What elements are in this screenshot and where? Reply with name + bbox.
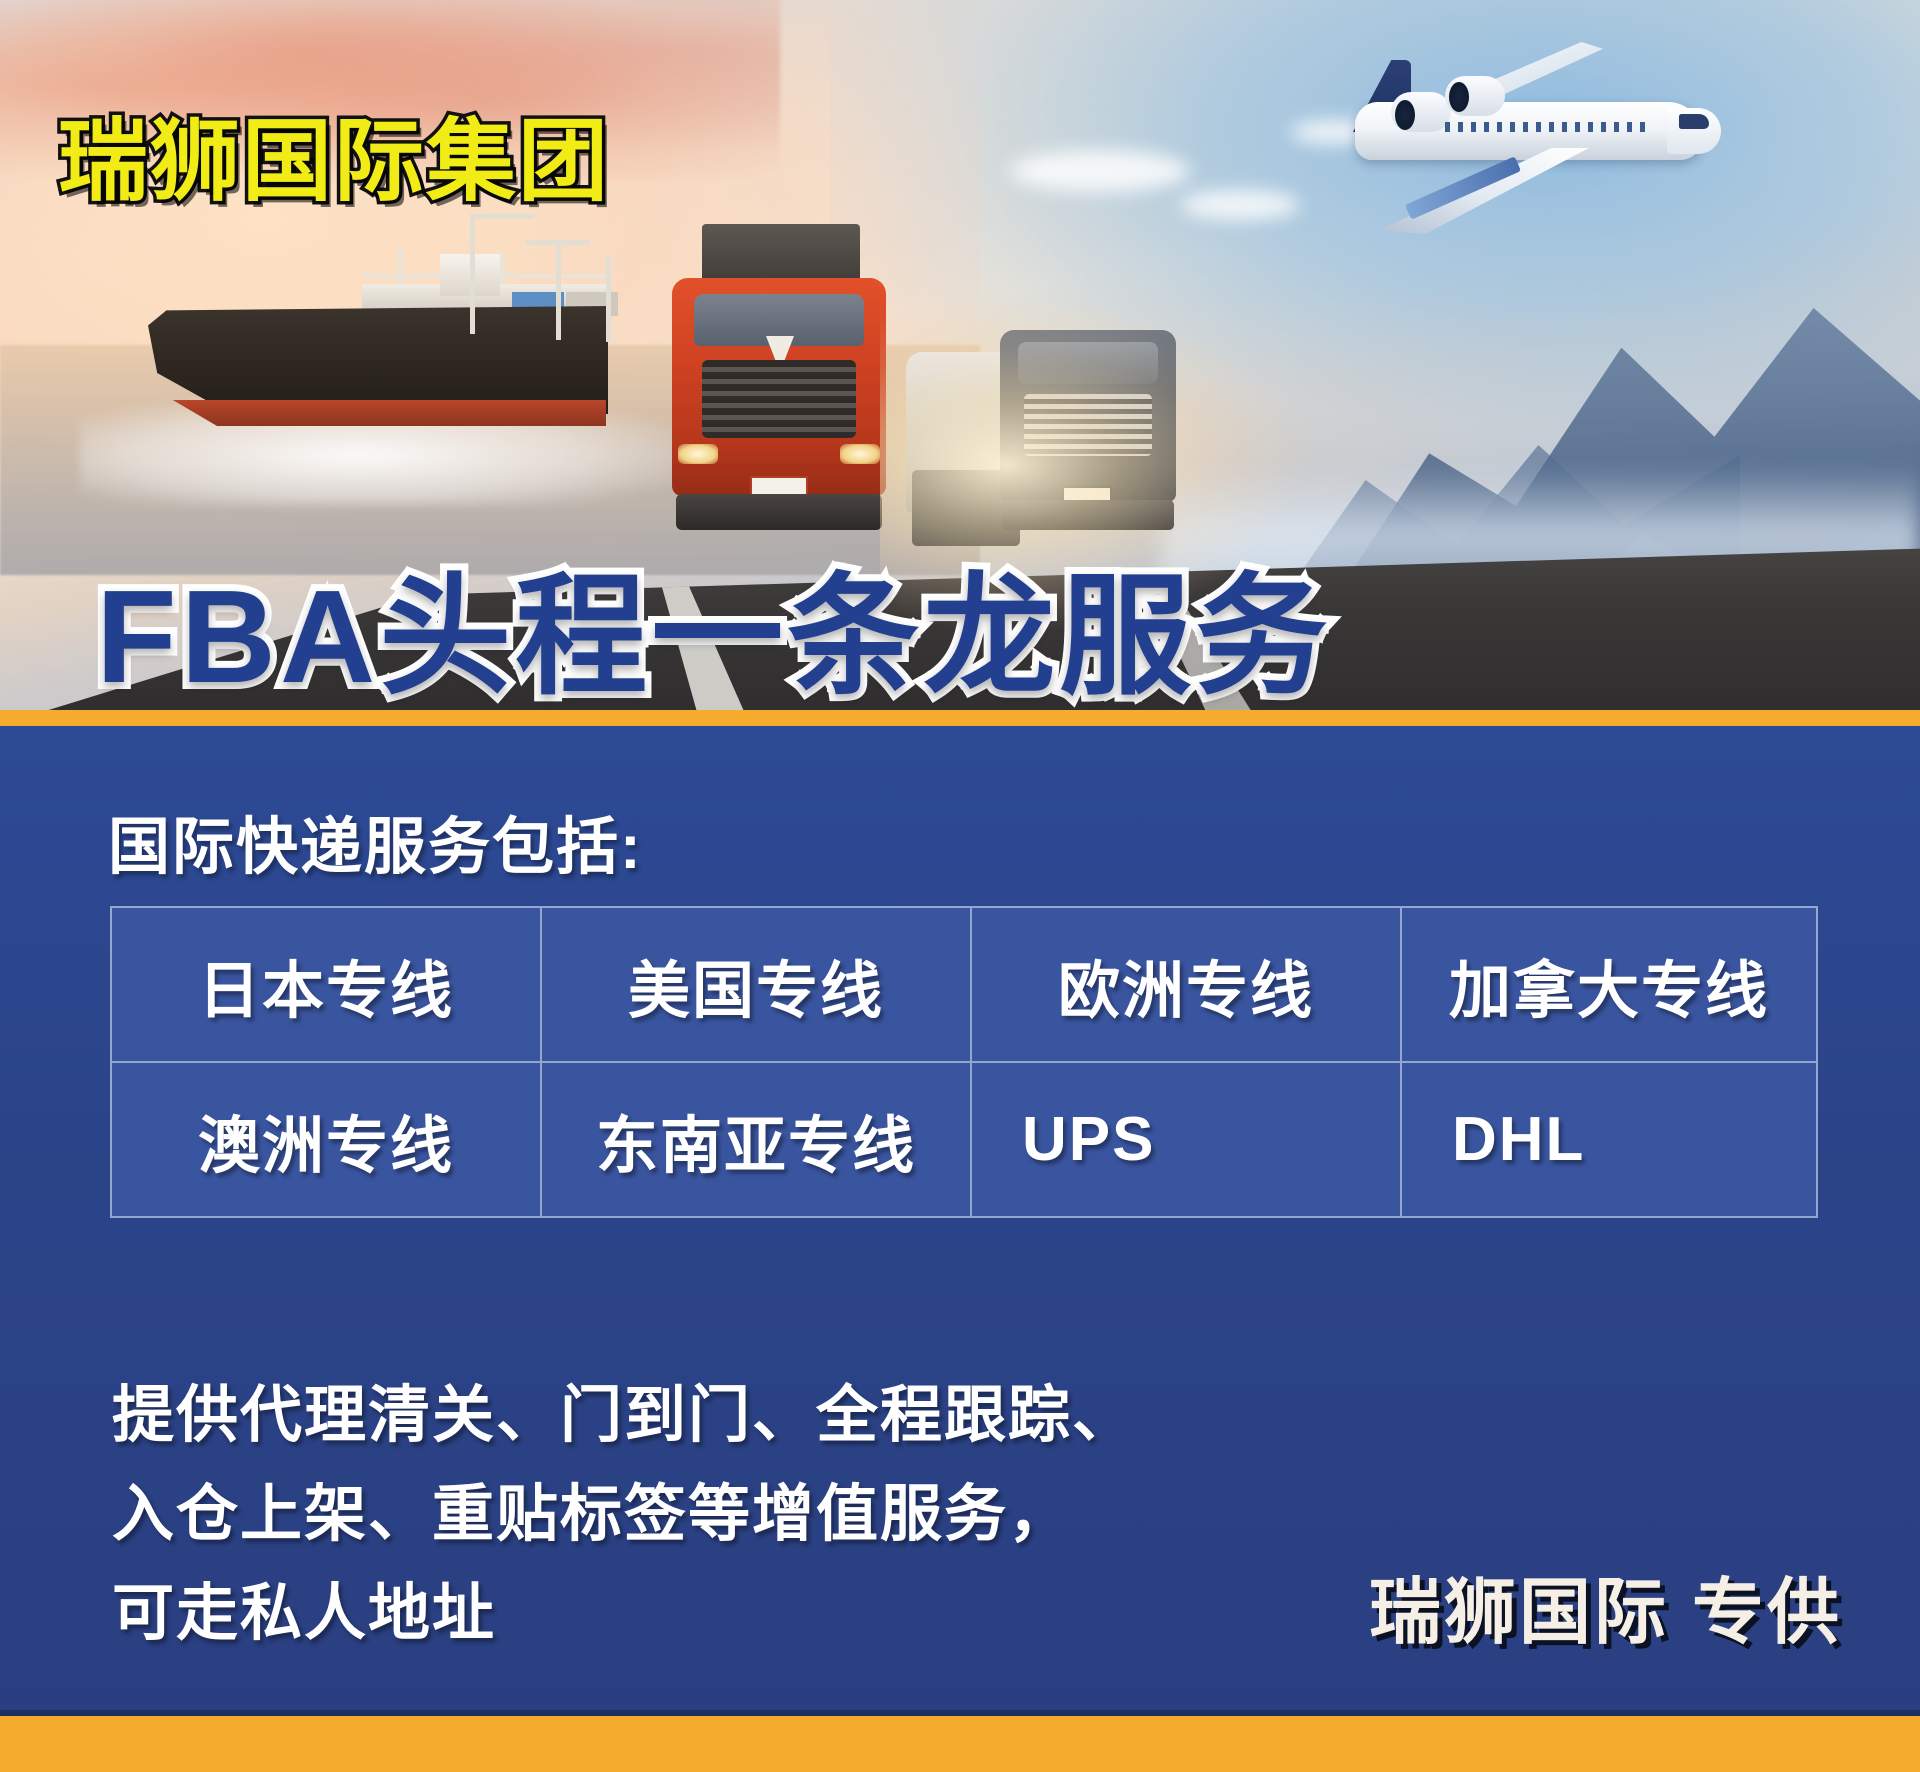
cloud-icon: [1180, 190, 1300, 220]
service-lines-table: 日本专线 美国专线 欧洲专线 加拿大专线 澳洲专线 东南亚专线 UPS DHL: [110, 906, 1818, 1218]
port-crane-icon: [526, 240, 590, 245]
airplane-icon: [1295, 30, 1715, 250]
blurb-line-3: 可走私人地址: [112, 1564, 1136, 1663]
section-heading: 国际快递服务包括:: [108, 796, 643, 886]
cloud-icon: [1010, 150, 1190, 192]
value-added-services-text: 提供代理清关、门到门、全程跟踪、 入仓上架、重贴标签等增值服务， 可走私人地址: [112, 1366, 1136, 1664]
table-cell-canada: 加拿大专线: [1401, 907, 1817, 1062]
table-cell-ups: UPS: [971, 1062, 1401, 1217]
table-cell-australia: 澳洲专线: [111, 1062, 541, 1217]
table-cell-dhl: DHL: [1401, 1062, 1817, 1217]
table-cell-japan: 日本专线: [111, 907, 541, 1062]
hero-photo: 瑞狮国际集团 FBA头程一条龙服务: [0, 0, 1920, 725]
blurb-line-2: 入仓上架、重贴标签等增值服务，: [112, 1465, 1136, 1564]
table-cell-usa: 美国专线: [541, 907, 971, 1062]
port-crane-icon: [470, 214, 475, 334]
table-cell-europe: 欧洲专线: [971, 907, 1401, 1062]
port-crane-icon: [556, 240, 561, 340]
table-cell-southeast-asia: 东南亚专线: [541, 1062, 971, 1217]
cargo-ship-icon: [148, 248, 618, 433]
bottom-accent-bar: [0, 1716, 1920, 1772]
info-panel: 国际快递服务包括: 日本专线 美国专线 欧洲专线 加拿大专线 澳洲专线 东南亚专…: [0, 726, 1920, 1716]
table-row: 澳洲专线 东南亚专线 UPS DHL: [111, 1062, 1817, 1217]
poster-banner: 瑞狮国际集团 FBA头程一条龙服务 国际快递服务包括: 日本专线 美国专线 欧洲…: [0, 0, 1920, 1772]
page-title: FBA头程一条龙服务: [96, 530, 1331, 721]
blurb-line-1: 提供代理清关、门到门、全程跟踪、: [112, 1366, 1136, 1465]
gold-divider: [0, 710, 1920, 726]
brand-logo: 瑞狮国际集团: [58, 88, 610, 218]
footer-brand-mark: 瑞狮国际 专供: [1369, 1553, 1842, 1658]
port-crane-icon: [606, 256, 611, 342]
table-row: 日本专线 美国专线 欧洲专线 加拿大专线: [111, 907, 1817, 1062]
